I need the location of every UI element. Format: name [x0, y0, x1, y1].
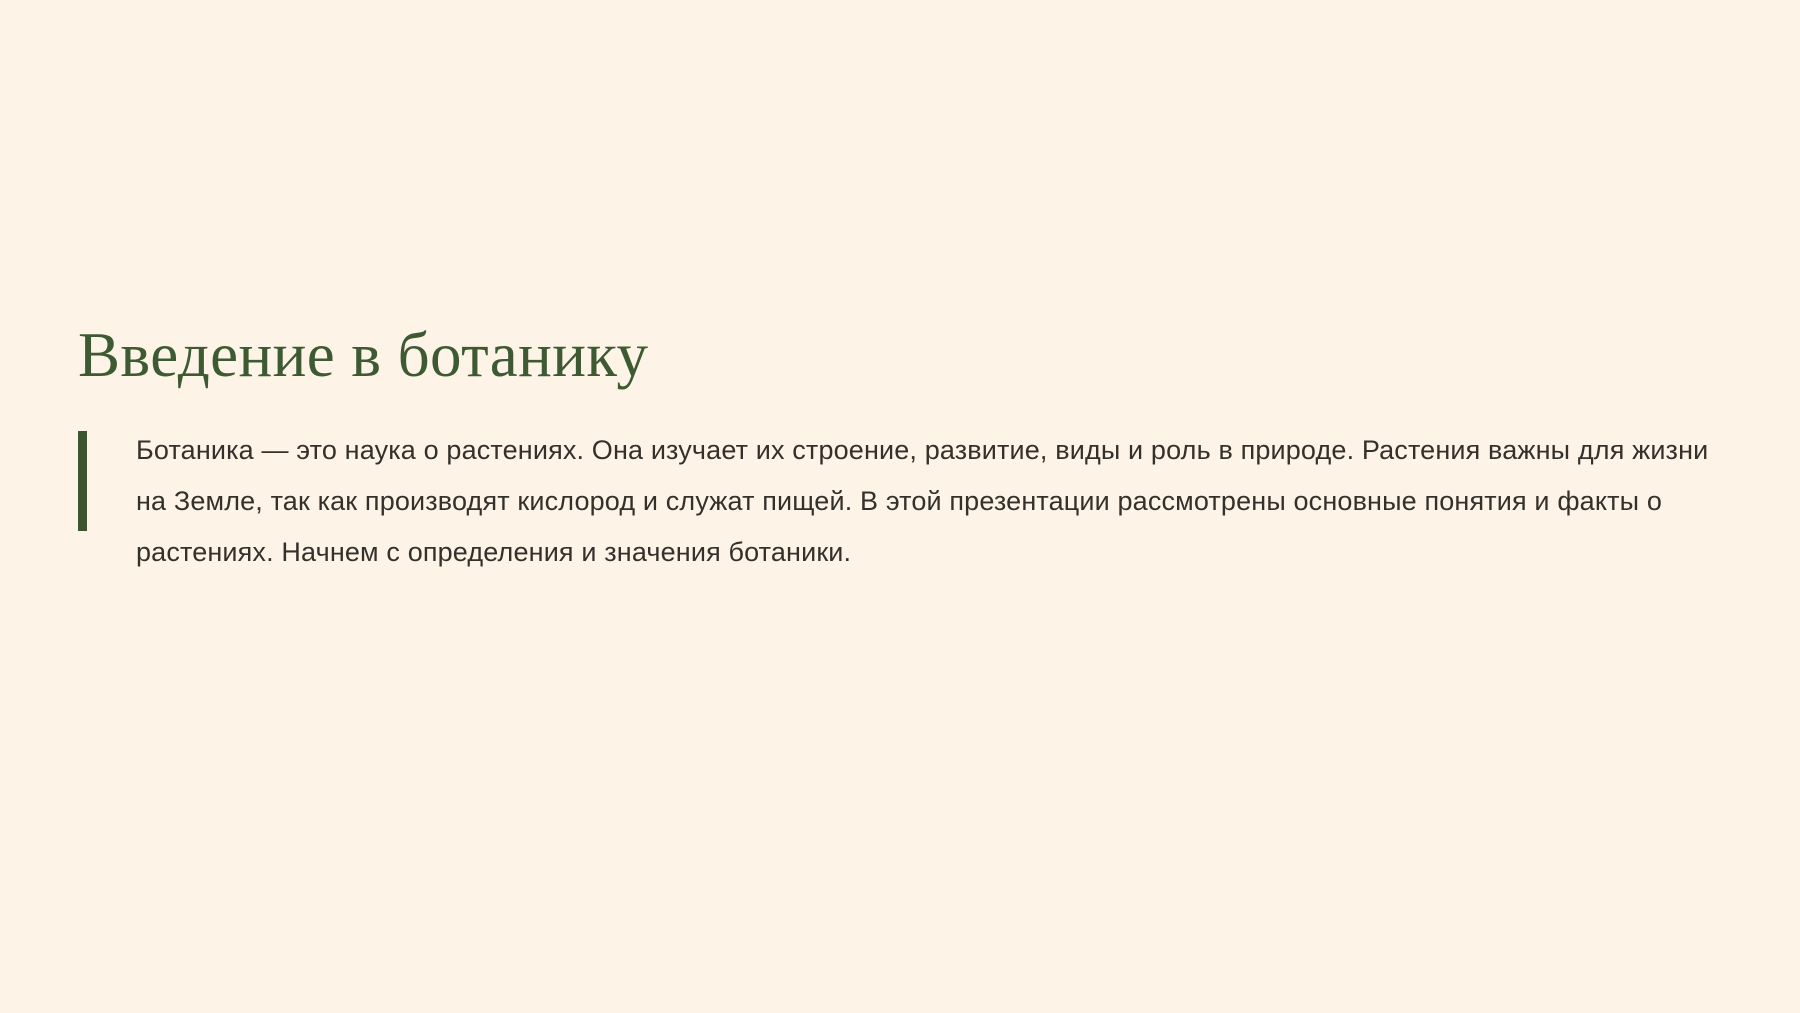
slide-content: Введение в ботанику Ботаника — это наука…: [78, 320, 1738, 578]
presentation-slide: Введение в ботанику Ботаника — это наука…: [0, 0, 1800, 1013]
body-text-block: Ботаника — это наука о растениях. Она из…: [78, 425, 1738, 578]
body-paragraph: Ботаника — это наука о растениях. Она из…: [136, 425, 1738, 578]
page-title: Введение в ботанику: [78, 320, 1738, 391]
left-accent-bar: [78, 431, 87, 531]
